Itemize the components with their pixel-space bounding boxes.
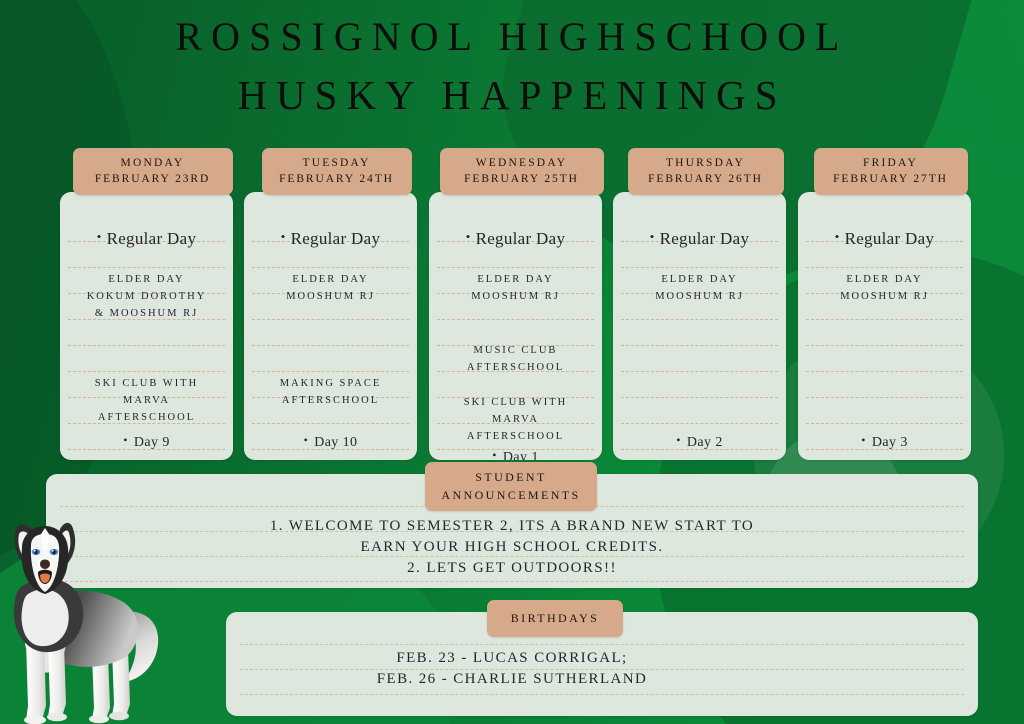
birthdays-tab: BIRTHDAYS	[487, 600, 623, 637]
elder-day-entry: ELDER DAY	[619, 271, 780, 288]
card-spacer	[250, 250, 411, 271]
afterschool-activity-entry: AFTERSCHOOL	[435, 428, 596, 445]
elder-day-entry: & MOOSHUM RJ	[66, 305, 227, 322]
card-spacer	[66, 250, 227, 271]
card-spacer	[804, 250, 965, 271]
afterschool-activity-entry: MARVA	[66, 392, 227, 409]
card-spacer	[619, 250, 780, 271]
day-card-wednesday[interactable]: •Regular DayELDER DAYMOOSHUM RJMUSIC CLU…	[429, 192, 602, 460]
day-number-label: •Day 1	[435, 445, 596, 460]
bullet-icon: •	[466, 229, 471, 244]
bullet-icon: •	[281, 229, 286, 244]
regular-day-text: Regular Day	[660, 229, 750, 248]
week-schedule: •Regular DayELDER DAYKOKUM DOROTHY& MOOS…	[0, 170, 1024, 470]
day-card-tuesday[interactable]: •Regular DayELDER DAYMOOSHUM RJMAKING SP…	[244, 192, 417, 460]
card-flex-filler	[619, 305, 780, 430]
bullet-icon: •	[492, 448, 497, 460]
day-number-text: Day 2	[687, 435, 723, 450]
day-card-monday[interactable]: •Regular DayELDER DAYKOKUM DOROTHY& MOOS…	[60, 192, 233, 460]
announcements-tab-line-2: ANNOUNCEMENTS	[425, 486, 597, 504]
afterschool-activity-entry: AFTERSCHOOL	[66, 409, 227, 426]
bullet-icon: •	[861, 433, 866, 447]
day-tab-date: FEBRUARY 24TH	[268, 171, 406, 187]
regular-day-label: •Regular Day	[250, 224, 411, 250]
afterschool-activity-entry: SKI CLUB WITH	[66, 375, 227, 392]
card-spacer	[250, 305, 411, 375]
regular-day-text: Regular Day	[476, 229, 566, 248]
bullet-icon: •	[676, 433, 681, 447]
day-tab-thursday[interactable]: THURSDAYFEBRUARY 26TH	[628, 148, 784, 195]
elder-day-entry: MOOSHUM RJ	[804, 288, 965, 305]
husky-mascot-icon	[0, 508, 175, 724]
day-card-body: •Regular DayELDER DAYMOOSHUM RJMAKING SP…	[250, 216, 411, 456]
bullet-icon: •	[650, 229, 655, 244]
day-tab-weekday: THURSDAY	[634, 155, 778, 171]
day-number-text: Day 10	[314, 435, 357, 450]
elder-day-entry: MOOSHUM RJ	[619, 288, 780, 305]
card-spacer	[66, 322, 227, 375]
title-line-1: ROSSIGNOL HIGHSCHOOL	[0, 8, 1024, 66]
card-flex-filler	[804, 305, 965, 430]
rule-line	[240, 695, 964, 716]
bullet-icon: •	[97, 229, 102, 244]
day-tab-wednesday[interactable]: WEDNESDAYFEBRUARY 25TH	[440, 148, 604, 195]
day-tab-date: FEBRUARY 25TH	[446, 171, 598, 187]
elder-day-entry: ELDER DAY	[435, 271, 596, 288]
day-tab-weekday: TUESDAY	[268, 155, 406, 171]
day-card-body: •Regular DayELDER DAYMOOSHUM RJMUSIC CLU…	[435, 216, 596, 456]
card-flex-filler	[250, 409, 411, 430]
regular-day-label: •Regular Day	[619, 224, 780, 250]
card-spacer	[435, 376, 596, 394]
student-announcements-tab: STUDENT ANNOUNCEMENTS	[425, 462, 597, 511]
afterschool-activity-entry: MAKING SPACE	[250, 375, 411, 392]
card-spacer	[435, 250, 596, 271]
day-tab-tuesday[interactable]: TUESDAYFEBRUARY 24TH	[262, 148, 412, 195]
afterschool-activity-entry: SKI CLUB WITH	[435, 394, 596, 411]
day-card-friday[interactable]: •Regular DayELDER DAYMOOSHUM RJ•Day 3	[798, 192, 971, 460]
regular-day-label: •Regular Day	[435, 224, 596, 250]
afterschool-activity-entry: MARVA	[435, 411, 596, 428]
day-number-text: Day 9	[134, 435, 170, 450]
day-number-text: Day 1	[503, 450, 539, 460]
elder-day-entry: MOOSHUM RJ	[435, 288, 596, 305]
day-tab-date: FEBRUARY 26TH	[634, 171, 778, 187]
day-number-label: •Day 3	[804, 430, 965, 453]
announcements-tab-line-1: STUDENT	[425, 468, 597, 486]
elder-day-entry: ELDER DAY	[250, 271, 411, 288]
regular-day-label: •Regular Day	[66, 224, 227, 250]
day-card-body: •Regular DayELDER DAYMOOSHUM RJ•Day 3	[804, 216, 965, 456]
title-line-2: HUSKY HAPPENINGS	[0, 66, 1024, 124]
midblock-activity-entry: MUSIC CLUB	[435, 342, 596, 359]
day-tab-date: FEBRUARY 23RD	[79, 171, 227, 187]
elder-day-entry: MOOSHUM RJ	[250, 288, 411, 305]
regular-day-text: Regular Day	[107, 229, 197, 248]
regular-day-text: Regular Day	[845, 229, 935, 248]
page-title: ROSSIGNOL HIGHSCHOOL HUSKY HAPPENINGS	[0, 8, 1024, 124]
bullet-icon: •	[123, 433, 128, 447]
card-spacer	[435, 305, 596, 342]
afterschool-activity-entry: AFTERSCHOOL	[250, 392, 411, 409]
day-card-thursday[interactable]: •Regular DayELDER DAYMOOSHUM RJ•Day 2	[613, 192, 786, 460]
day-number-label: •Day 2	[619, 430, 780, 453]
bullet-icon: •	[304, 433, 309, 447]
day-tab-monday[interactable]: MONDAYFEBRUARY 23RD	[73, 148, 233, 195]
day-tab-date: FEBRUARY 27TH	[820, 171, 962, 187]
regular-day-label: •Regular Day	[804, 224, 965, 250]
regular-day-text: Regular Day	[291, 229, 381, 248]
midblock-activity-entry: AFTERSCHOOL	[435, 359, 596, 376]
day-tab-weekday: FRIDAY	[820, 155, 962, 171]
bullet-icon: •	[835, 229, 840, 244]
newsletter-poster: ROSSIGNOL HIGHSCHOOL HUSKY HAPPENINGS •R…	[0, 0, 1024, 724]
elder-day-entry: ELDER DAY	[804, 271, 965, 288]
day-number-text: Day 3	[872, 435, 908, 450]
day-number-label: •Day 10	[250, 430, 411, 453]
day-tab-weekday: MONDAY	[79, 155, 227, 171]
day-tab-weekday: WEDNESDAY	[446, 155, 598, 171]
day-tab-friday[interactable]: FRIDAYFEBRUARY 27TH	[814, 148, 968, 195]
elder-day-entry: KOKUM DOROTHY	[66, 288, 227, 305]
elder-day-entry: ELDER DAY	[66, 271, 227, 288]
day-card-body: •Regular DayELDER DAYKOKUM DOROTHY& MOOS…	[66, 216, 227, 456]
day-card-body: •Regular DayELDER DAYMOOSHUM RJ•Day 2	[619, 216, 780, 456]
day-number-label: •Day 9	[66, 430, 227, 453]
